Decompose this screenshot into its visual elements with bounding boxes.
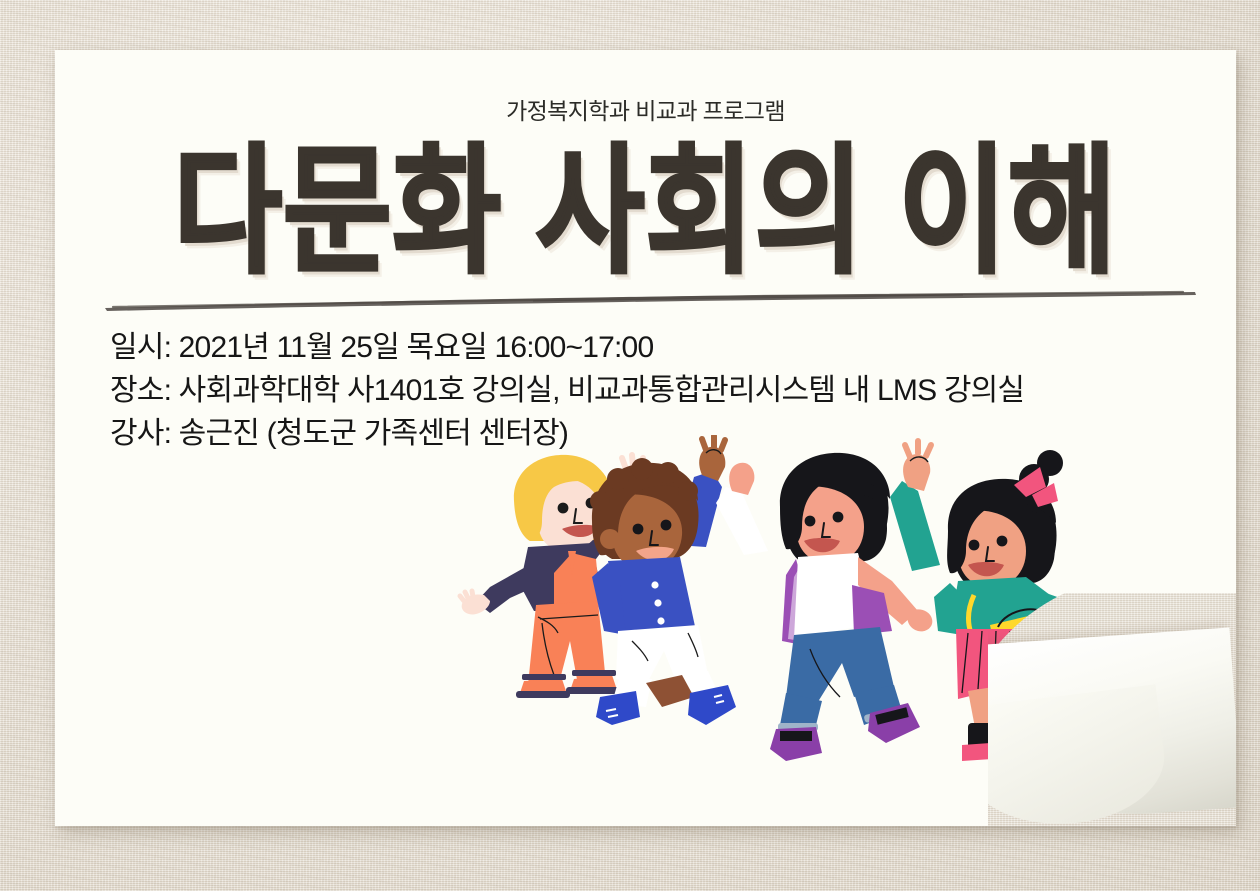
poster-scene: 가정복지학과 비교과 프로그램 다문화 사회의 이해 일시: 2021년 11월… (0, 0, 1260, 891)
poster-sheet: 가정복지학과 비교과 프로그램 다문화 사회의 이해 일시: 2021년 11월… (55, 50, 1236, 826)
page-title: 다문화 사회의 이해 (55, 138, 1236, 288)
detail-line-venue: 장소: 사회과학대학 사1401호 강의실, 비교과통합관리시스템 내 LMS … (110, 369, 1220, 412)
poster-subtitle: 가정복지학과 비교과 프로그램 (55, 92, 1236, 126)
four-children-celebrating-illustration (450, 435, 1090, 805)
detail-line-datetime: 일시: 2021년 11월 25일 목요일 16:00~17:00 (110, 326, 1220, 369)
brush-stroke-divider (103, 290, 1198, 312)
child-bun-figure (890, 441, 1090, 761)
